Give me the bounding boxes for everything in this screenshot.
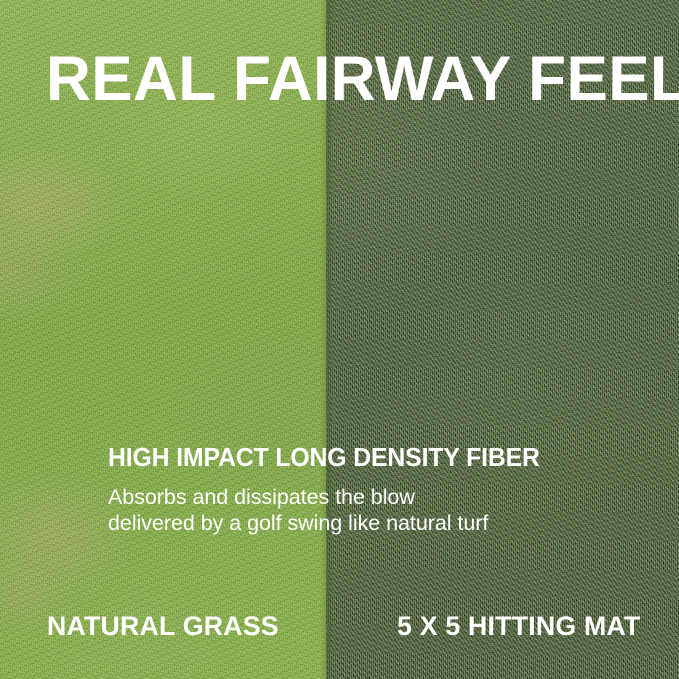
caption-natural-grass: NATURAL GRASS bbox=[47, 613, 279, 640]
feature-description: Absorbs and dissipates the blow delivere… bbox=[108, 484, 488, 536]
caption-hitting-mat: 5 X 5 HITTING MAT bbox=[397, 613, 640, 640]
page-title: REAL FAIRWAY FEEL bbox=[46, 48, 641, 111]
text-overlay: REAL FAIRWAY FEEL HIGH IMPACT LONG DENSI… bbox=[0, 0, 679, 679]
feature-description-line-1: Absorbs and dissipates the blow bbox=[108, 484, 488, 510]
product-feature-poster: REAL FAIRWAY FEEL HIGH IMPACT LONG DENSI… bbox=[0, 0, 679, 679]
feature-heading: HIGH IMPACT LONG DENSITY FIBER bbox=[108, 446, 540, 472]
feature-description-line-2: delivered by a golf swing like natural t… bbox=[108, 510, 488, 536]
